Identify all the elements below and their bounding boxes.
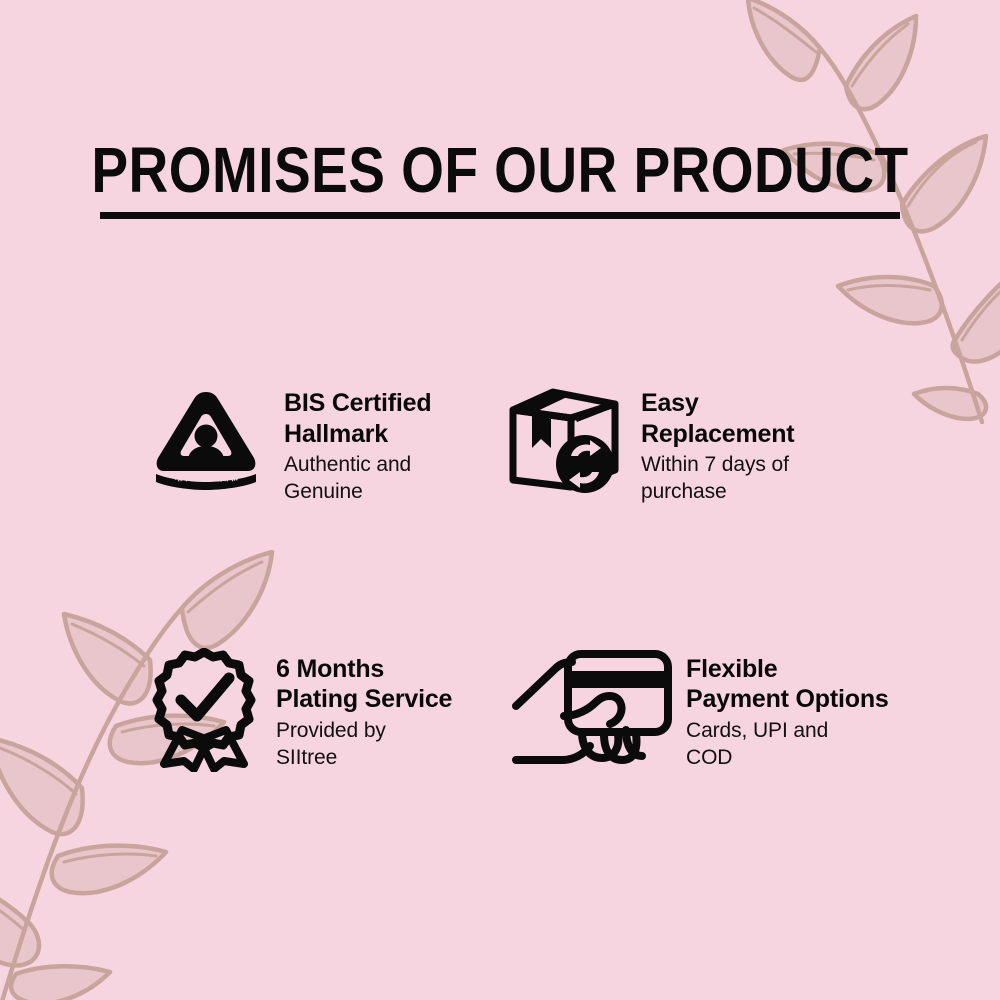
- title-block: PROMISES OF OUR PRODUCT: [0, 138, 1000, 219]
- feature-text: Easy Replacement Within 7 days of purcha…: [641, 378, 794, 506]
- feature-plating-service: 6 Months Plating Service Provided by SII…: [150, 644, 510, 772]
- feature-subtitle: Within 7 days of purchase: [641, 452, 794, 506]
- feature-subtitle: Provided by SIItree: [276, 718, 452, 772]
- feature-title-line-2: Hallmark: [284, 419, 431, 450]
- page-title: PROMISES OF OUR PRODUCT: [70, 138, 930, 202]
- feature-title-line-1: Easy: [641, 388, 794, 419]
- title-underline: [100, 212, 900, 219]
- feature-title: Flexible Payment Options: [686, 654, 889, 715]
- feature-title-line-2: Replacement: [641, 419, 794, 450]
- award-rosette-check-icon: [150, 648, 258, 772]
- feature-text: 6 Months Plating Service Provided by SII…: [276, 644, 452, 772]
- feature-subtitle-line-2: SIItree: [276, 745, 452, 772]
- bis-hallmark-caption: मानकः पथप्रदर्शकः: [173, 472, 239, 484]
- feature-title-line-2: Plating Service: [276, 684, 452, 715]
- features-grid: मानकः पथप्रदर्शकः BIS Certified Hallmark…: [150, 378, 970, 772]
- hand-holding-card-icon: [510, 644, 678, 770]
- feature-subtitle: Authentic and Genuine: [284, 452, 431, 506]
- feature-subtitle-line-1: Within 7 days of: [641, 452, 794, 479]
- feature-title: 6 Months Plating Service: [276, 654, 452, 715]
- feature-title: BIS Certified Hallmark: [284, 388, 431, 449]
- box-exchange-icon: [505, 382, 623, 494]
- feature-row: 6 Months Plating Service Provided by SII…: [150, 644, 970, 772]
- feature-title-line-1: BIS Certified: [284, 388, 431, 419]
- feature-easy-replacement: Easy Replacement Within 7 days of purcha…: [505, 378, 925, 506]
- feature-subtitle: Cards, UPI and COD: [686, 718, 889, 772]
- feature-subtitle-line-1: Authentic and: [284, 452, 431, 479]
- feature-subtitle-line-2: COD: [686, 745, 889, 772]
- feature-row: मानकः पथप्रदर्शकः BIS Certified Hallmark…: [150, 378, 970, 506]
- feature-subtitle-line-2: Genuine: [284, 479, 431, 506]
- feature-text: Flexible Payment Options Cards, UPI and …: [686, 644, 889, 772]
- feature-bis-certified-hallmark: मानकः पथप्रदर्शकः BIS Certified Hallmark…: [150, 378, 505, 506]
- feature-text: BIS Certified Hallmark Authentic and Gen…: [284, 378, 431, 506]
- promises-poster: PROMISES OF OUR PRODUCT मानकः पथप्रदर्शक…: [0, 0, 1000, 1000]
- feature-subtitle-line-1: Provided by: [276, 718, 452, 745]
- feature-subtitle-line-2: purchase: [641, 479, 794, 506]
- feature-title-line-2: Payment Options: [686, 684, 889, 715]
- feature-title: Easy Replacement: [641, 388, 794, 449]
- feature-payment-options: Flexible Payment Options Cards, UPI and …: [510, 644, 930, 772]
- feature-subtitle-line-1: Cards, UPI and: [686, 718, 889, 745]
- feature-title-line-1: 6 Months: [276, 654, 452, 685]
- bis-hallmark-icon: मानकः पथप्रदर्शकः: [150, 386, 262, 490]
- feature-title-line-1: Flexible: [686, 654, 889, 685]
